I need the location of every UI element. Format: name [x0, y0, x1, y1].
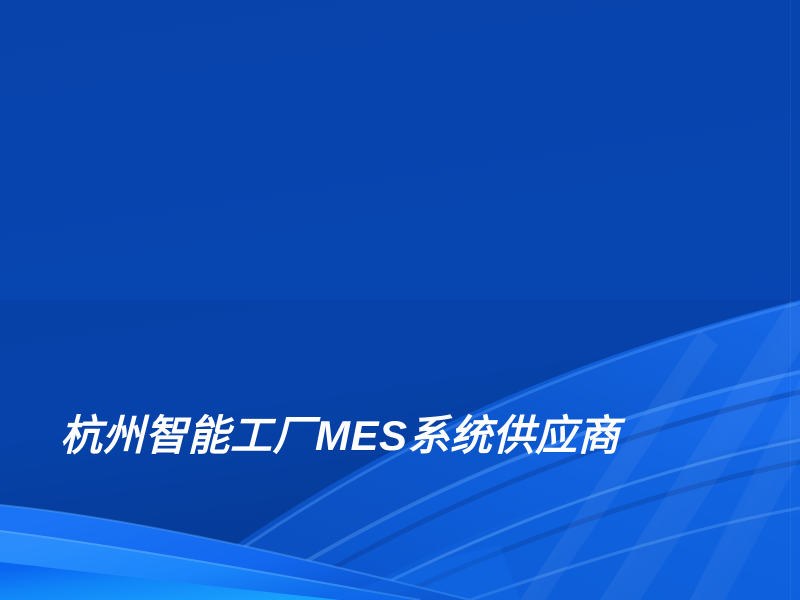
banner-headline: 杭州智能工厂MES系统供应商 推荐与选择指南: [60, 256, 760, 600]
right-edge-seam: [790, 0, 791, 600]
banner-canvas: 杭州智能工厂MES系统供应商 推荐与选择指南: [0, 0, 800, 600]
headline-line-1: 杭州智能工厂MES系统供应商: [60, 400, 760, 472]
